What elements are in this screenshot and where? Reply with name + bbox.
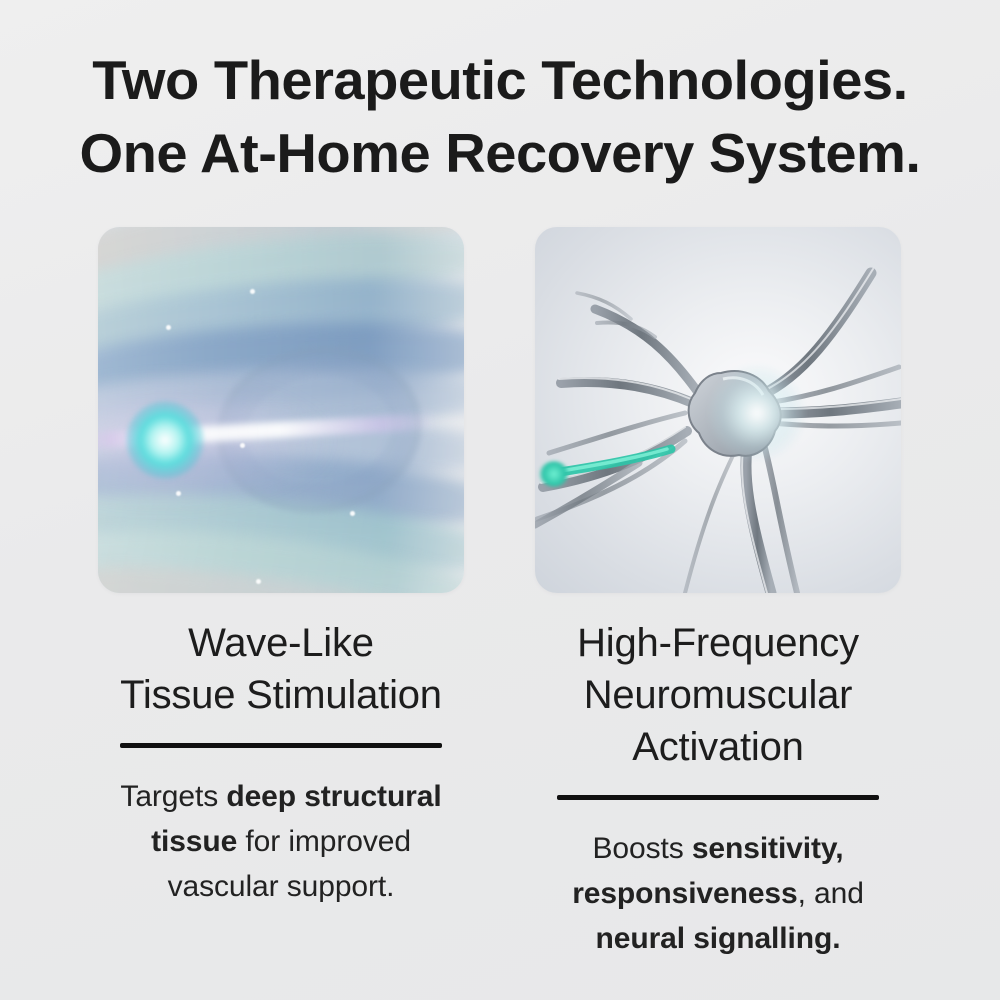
headline-line-2: One At-Home Recovery System.	[0, 117, 1000, 190]
wave-layers-image	[98, 227, 464, 593]
soma-glow	[709, 365, 805, 461]
emphasis-text: neural signalling.	[596, 922, 841, 955]
body-text: , and	[798, 877, 864, 910]
card-title-wave-like: Wave-Like Tissue Stimulation	[98, 617, 464, 721]
headline-line-1: Two Therapeutic Technologies.	[0, 44, 1000, 117]
promo-page: Two Therapeutic Technologies. One At-Hom…	[0, 0, 1000, 1000]
card-title-line: Neuromuscular	[535, 669, 901, 721]
page-title: Two Therapeutic Technologies. One At-Hom…	[0, 44, 1000, 190]
card-body-line: Targets deep structural	[98, 774, 464, 819]
card-divider-right	[557, 795, 879, 800]
card-divider-left	[120, 743, 442, 748]
card-body-line: neural signalling.	[535, 916, 901, 961]
feature-card-high-frequency-neuromuscular-activation: High-Frequency Neuromuscular Activation …	[535, 227, 901, 961]
neural-pulse-dot	[539, 461, 569, 487]
feature-card-grid: Wave-Like Tissue Stimulation Targets dee…	[0, 227, 1000, 987]
card-body-high-frequency: Boosts sensitivity,responsiveness, andne…	[535, 826, 901, 961]
card-title-line: Wave-Like	[98, 617, 464, 669]
emphasis-text: responsiveness	[572, 877, 797, 910]
neuron-icon	[535, 227, 901, 593]
emphasis-text: tissue	[151, 825, 237, 858]
card-title-line: Activation	[535, 721, 901, 773]
feature-card-wave-like-tissue-stimulation: Wave-Like Tissue Stimulation Targets dee…	[98, 227, 464, 909]
body-text: Targets	[120, 780, 226, 813]
neuron-image	[535, 227, 901, 593]
wave-flare-core	[126, 401, 204, 479]
emphasis-text: sensitivity,	[692, 832, 844, 865]
card-title-line: Tissue Stimulation	[98, 669, 464, 721]
card-body-line: tissue for improved	[98, 819, 464, 864]
body-text: for improved	[237, 825, 411, 858]
emphasis-text: deep structural	[226, 780, 441, 813]
body-text: Boosts	[592, 832, 691, 865]
card-title-high-frequency: High-Frequency Neuromuscular Activation	[535, 617, 901, 773]
card-body-line: Boosts sensitivity,	[535, 826, 901, 871]
card-body-wave-like: Targets deep structuraltissue for improv…	[98, 774, 464, 909]
card-body-line: responsiveness, and	[535, 871, 901, 916]
card-body-line: vascular support.	[98, 864, 464, 909]
wave-layers-icon	[98, 227, 464, 593]
body-text: vascular support.	[168, 870, 395, 903]
card-title-line: High-Frequency	[535, 617, 901, 669]
